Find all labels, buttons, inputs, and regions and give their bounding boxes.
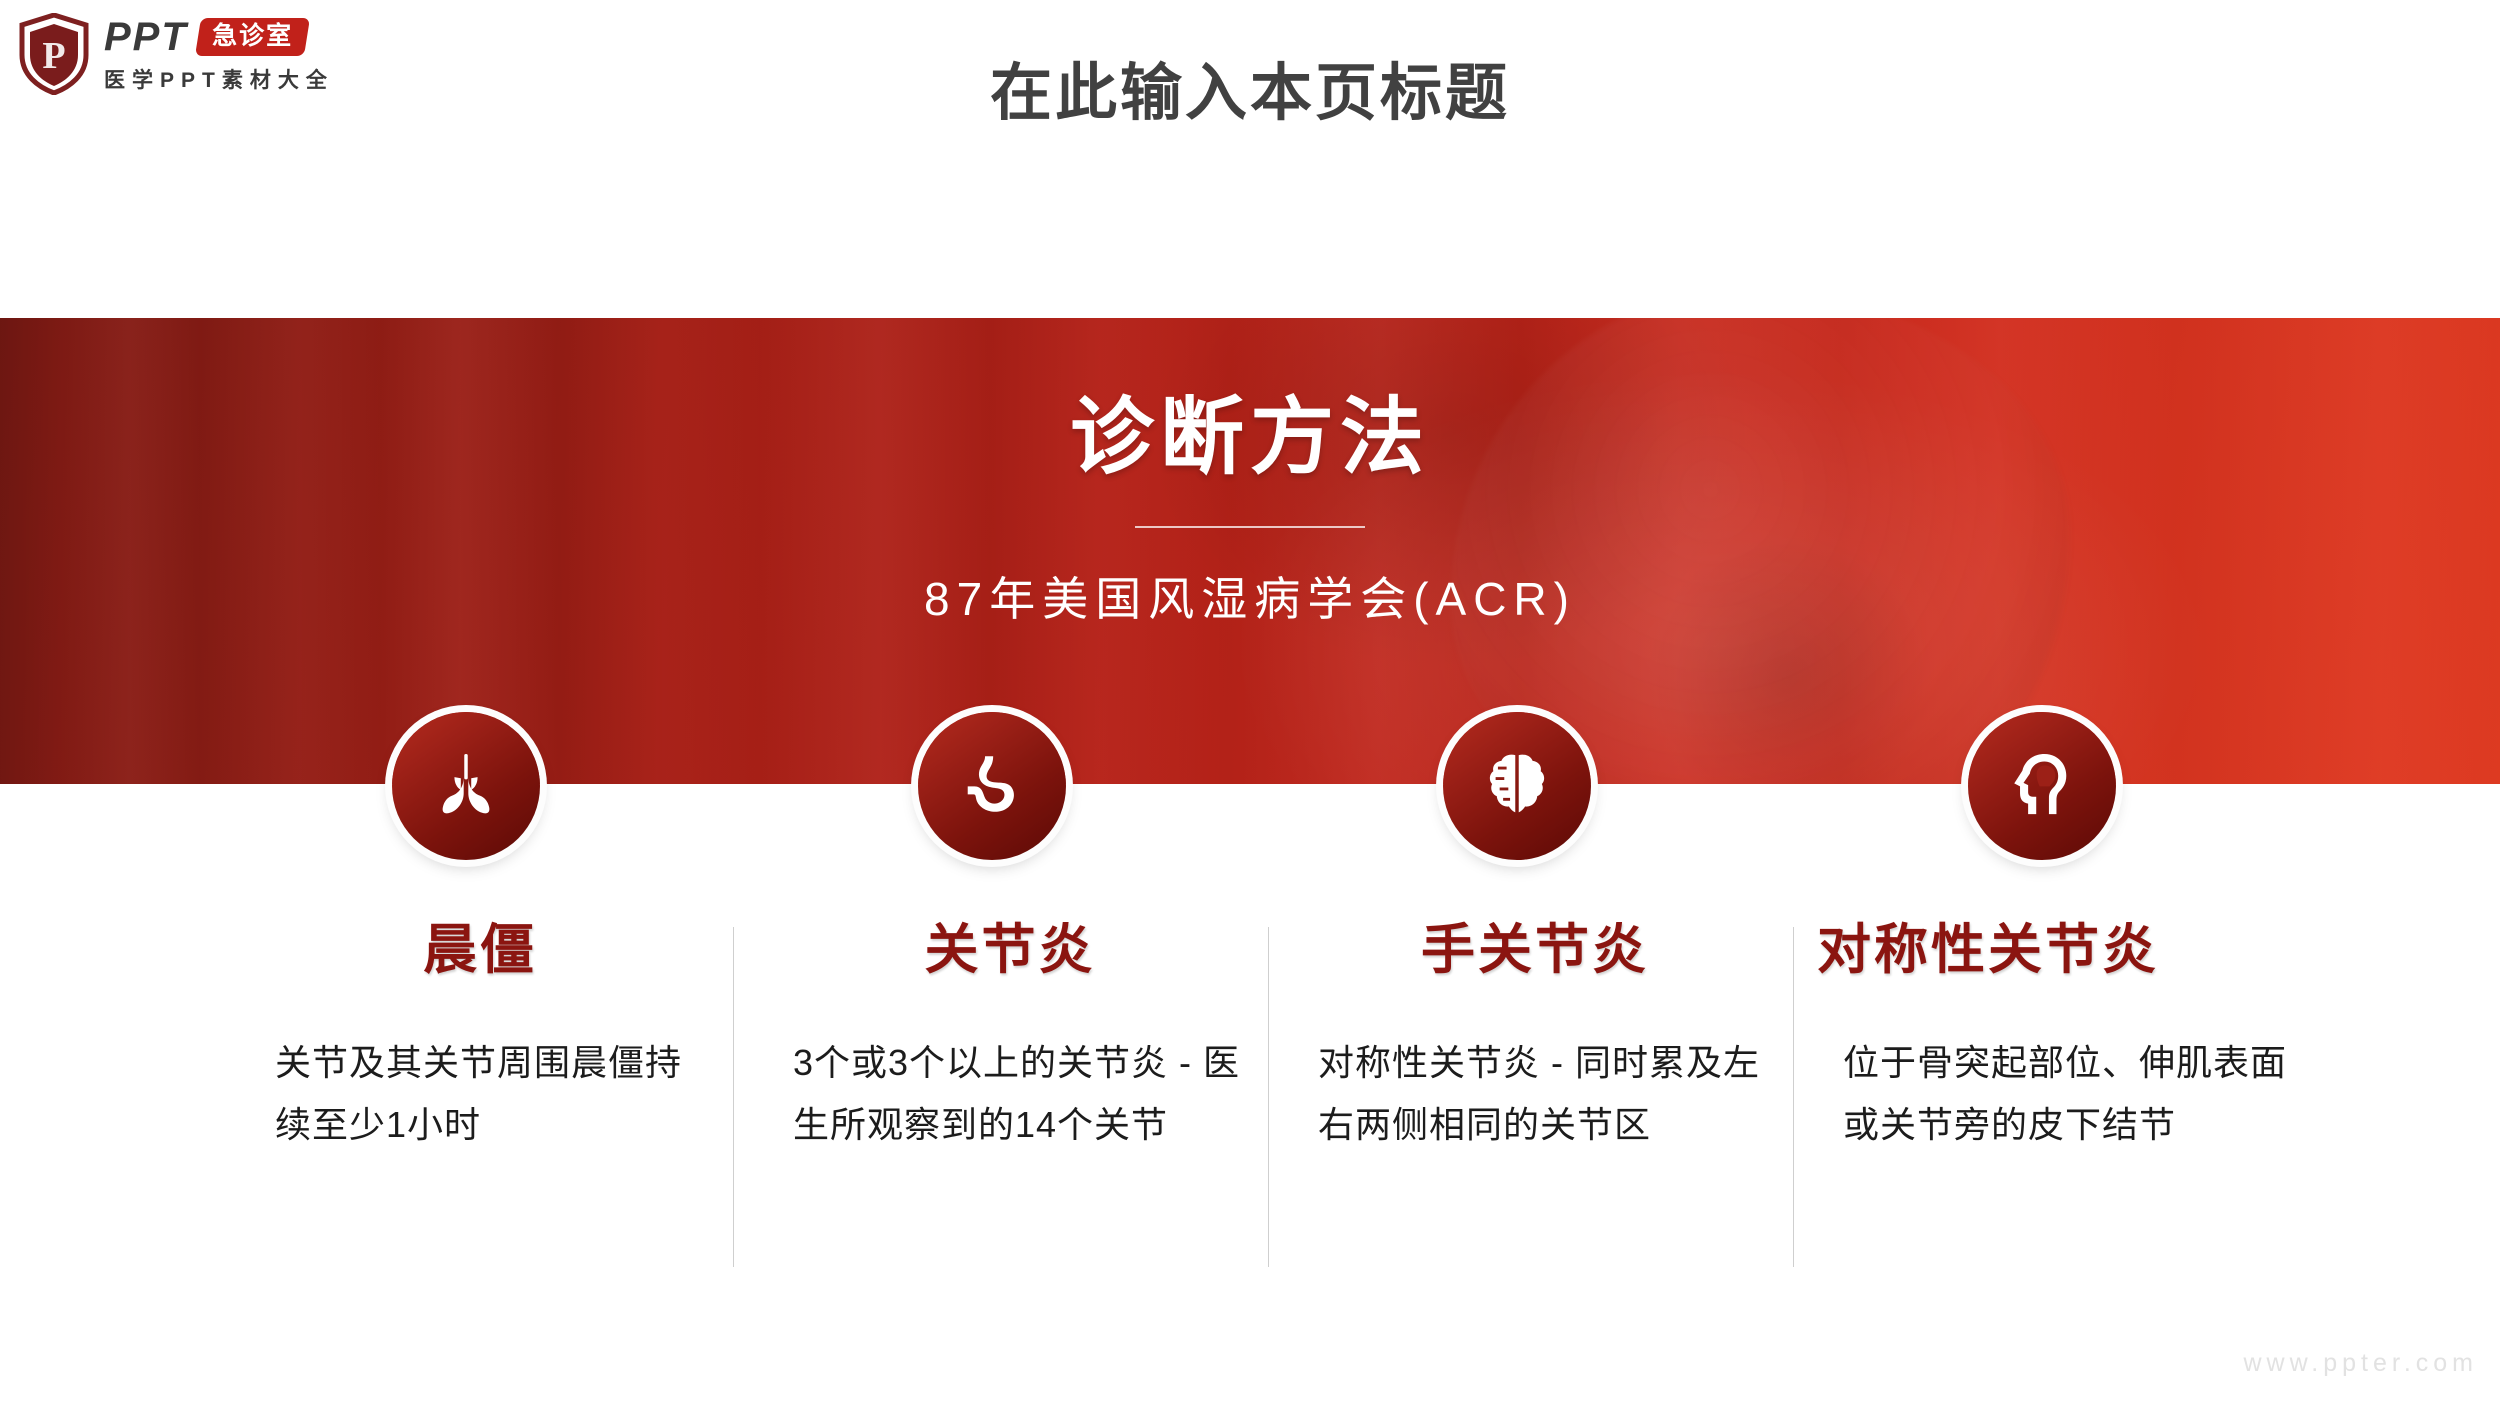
criteria-columns: 晨僵 关节及其关节周围晨僵持续至少1小时 关节炎 3个或3个以上的关节炎 - 医… (0, 920, 2500, 1340)
slide-root: P PPT 急诊室 医学PPT素材大全 在此输入本页标题 诊断方法 87年美国风… (0, 0, 2500, 1406)
criteria-column-4: 对称性关节炎 位于骨突起部位、伸肌表面或关节旁的皮下结节 (1825, 920, 2295, 1156)
head-brain-icon (2005, 747, 2079, 826)
icon-badge-4[interactable] (1968, 712, 2116, 860)
criteria-title-1: 晨僵 (245, 920, 715, 980)
banner-divider-rule (1135, 526, 1365, 528)
page-title: 在此输入本页标题 (0, 42, 2500, 132)
criteria-title-2: 关节炎 (775, 920, 1245, 980)
site-watermark: www.ppter.com (2243, 1349, 2478, 1378)
banner-subtitle: 87年美国风湿病学会(ACR) (0, 563, 2500, 629)
red-banner: 诊断方法 87年美国风湿病学会(ACR) (0, 318, 2500, 784)
criteria-column-3: 手关节炎 对称性关节炎 - 同时累及左右两侧相同的关节区 (1300, 920, 1770, 1156)
icon-badge-2[interactable] (918, 712, 1066, 860)
criteria-column-2: 关节炎 3个或3个以上的关节炎 - 医生所观察到的14个关节 (775, 920, 1245, 1156)
criteria-column-1: 晨僵 关节及其关节周围晨僵持续至少1小时 (245, 920, 715, 1156)
criteria-body-1: 关节及其关节周围晨僵持续至少1小时 (245, 1032, 715, 1156)
criteria-body-2: 3个或3个以上的关节炎 - 医生所观察到的14个关节 (775, 1032, 1245, 1156)
brain-icon (1480, 747, 1554, 826)
criteria-body-4: 位于骨突起部位、伸肌表面或关节旁的皮下结节 (1825, 1032, 2295, 1156)
stomach-icon (955, 747, 1029, 826)
lungs-icon (429, 747, 503, 826)
banner-title: 诊断方法 (0, 370, 2500, 491)
icon-badge-1[interactable] (392, 712, 540, 860)
icon-badge-3[interactable] (1443, 712, 1591, 860)
criteria-body-3: 对称性关节炎 - 同时累及左右两侧相同的关节区 (1300, 1032, 1770, 1156)
criteria-title-3: 手关节炎 (1300, 920, 1770, 980)
criteria-title-4: 对称性关节炎 (1817, 920, 2295, 980)
